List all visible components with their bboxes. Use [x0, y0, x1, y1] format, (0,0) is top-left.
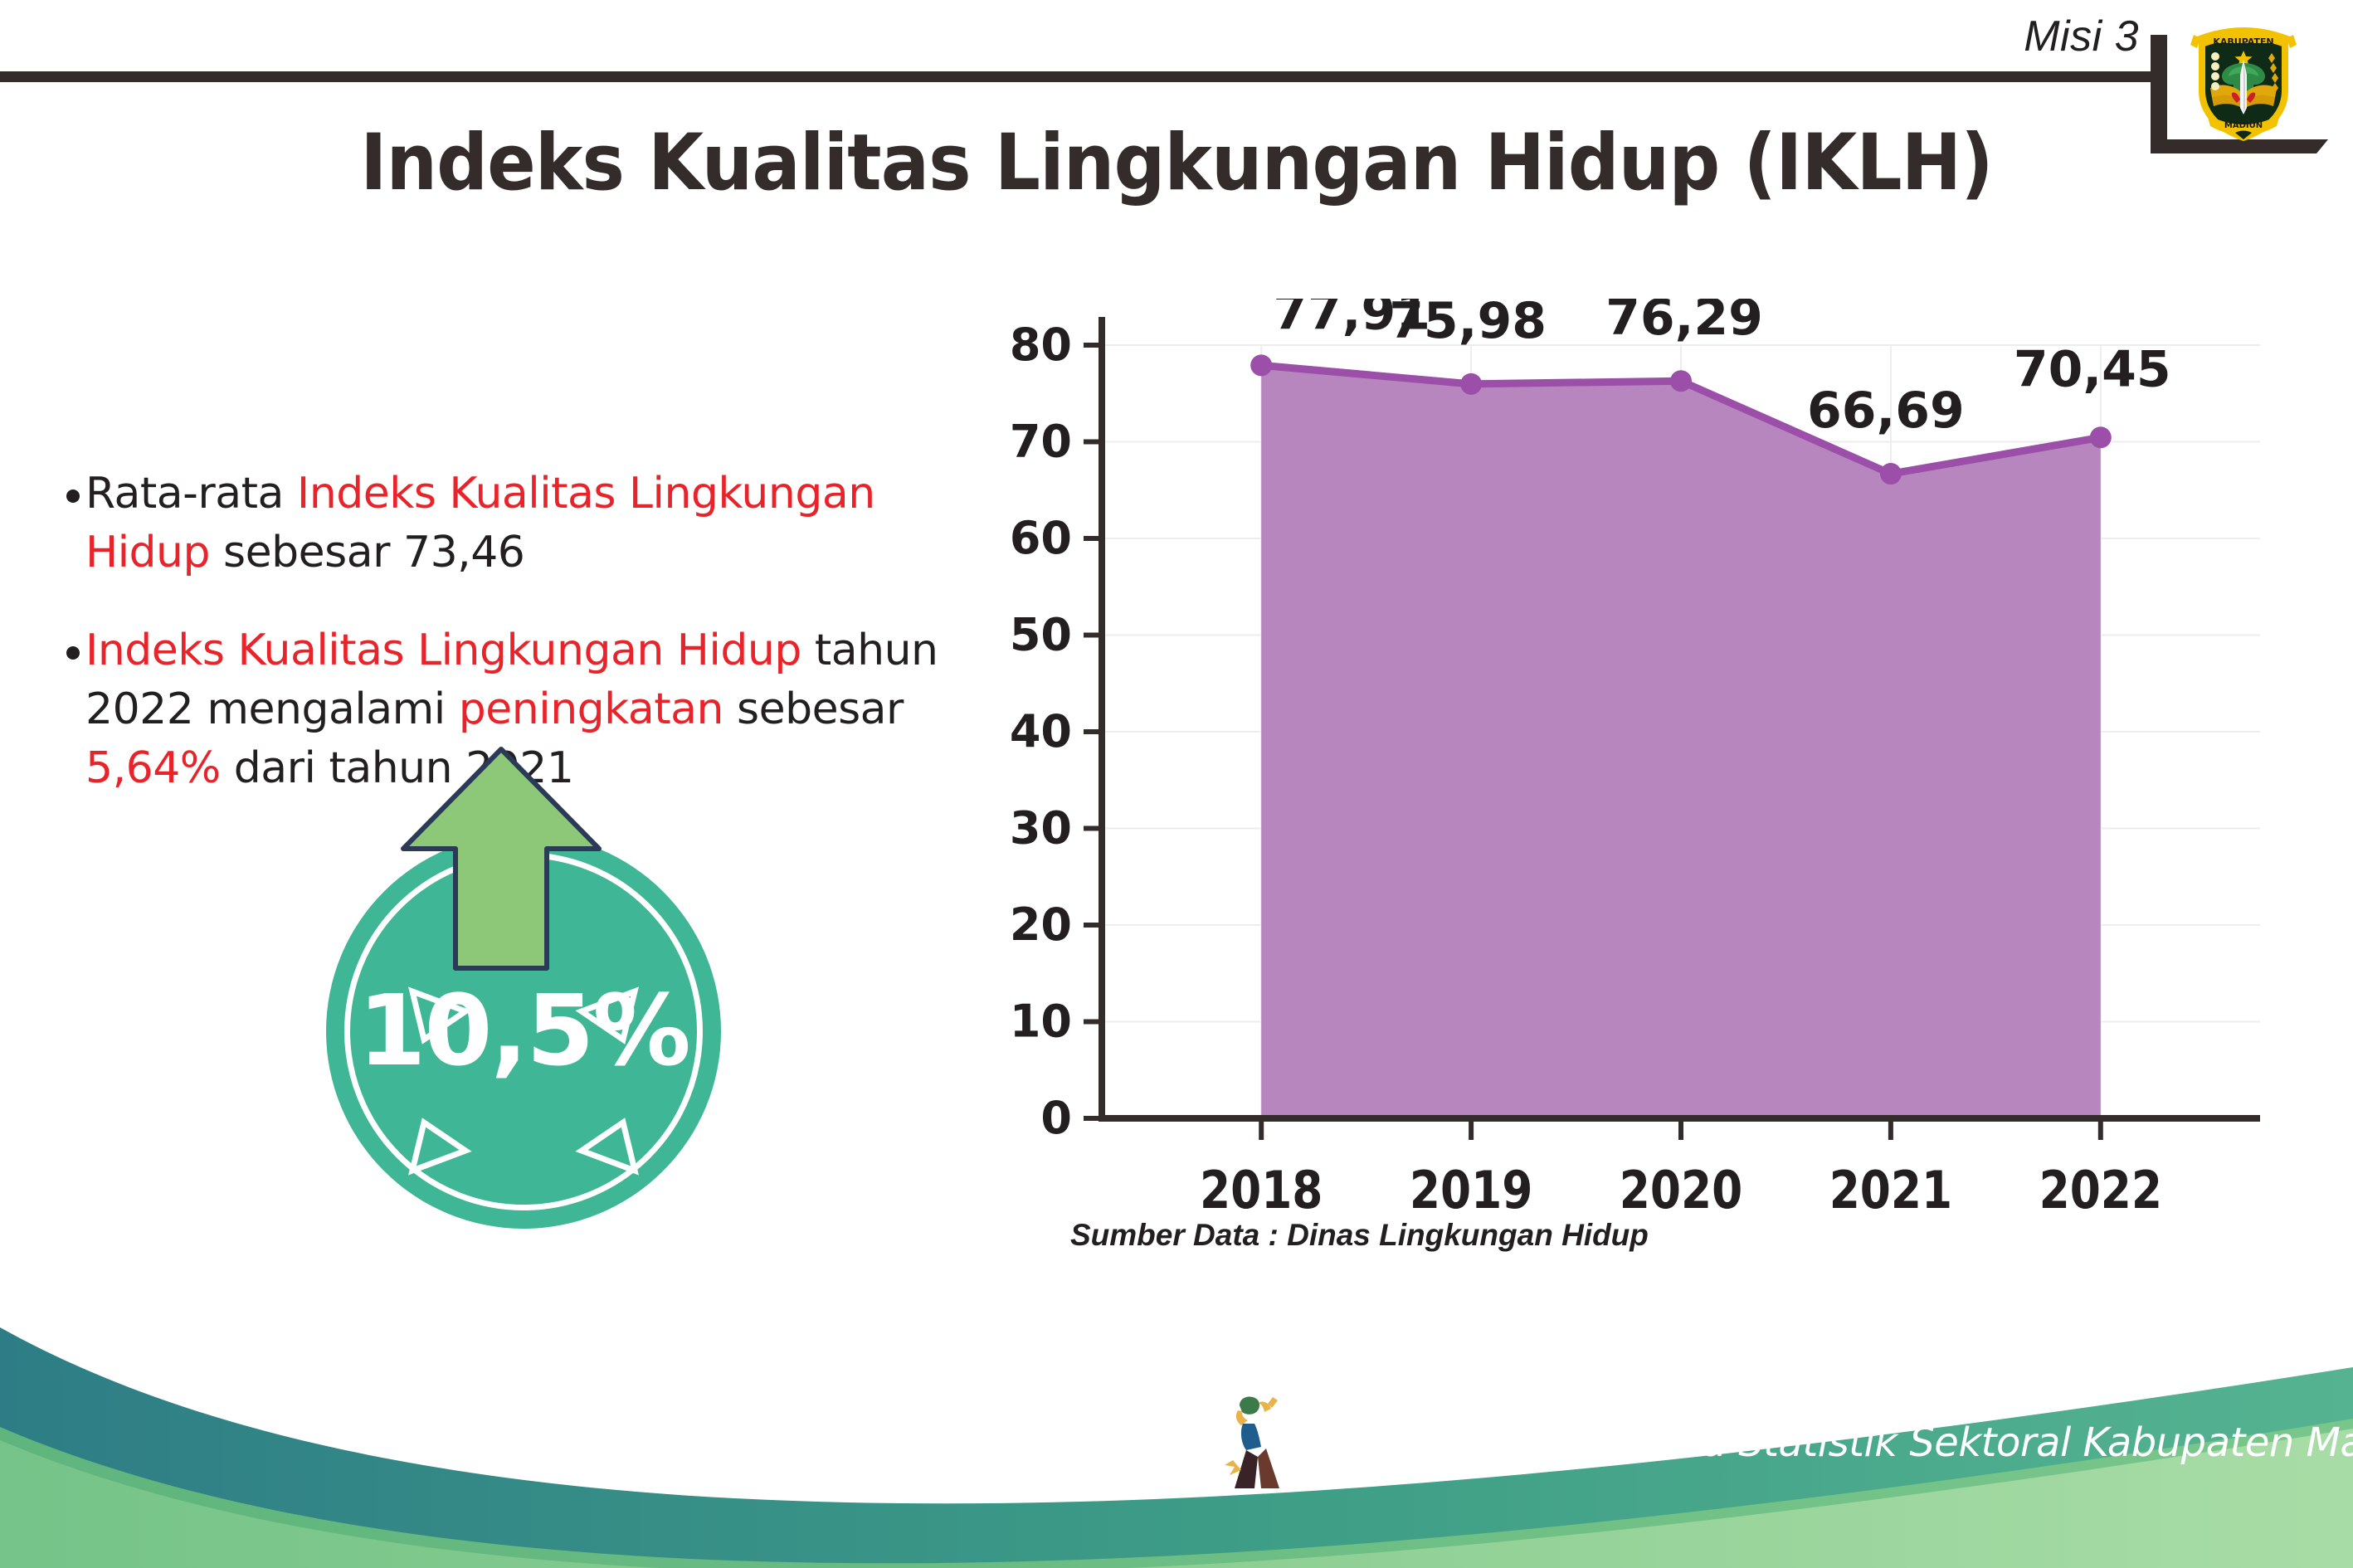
data-point-label: 76,29: [1605, 299, 1763, 347]
x-tick-label: 2020: [1620, 1160, 1742, 1220]
y-tick-label: 20: [1010, 898, 1072, 951]
chart-area-series: [1261, 365, 2101, 1118]
header-divider-rule: [0, 71, 2161, 82]
bullet-dot-icon: [66, 646, 80, 660]
footer-brand: Media Infografis Data Statistik Sektoral…: [1218, 1389, 2353, 1497]
data-point-label: 75,98: [1389, 299, 1547, 350]
y-tick-label: 0: [1040, 1092, 1072, 1144]
x-tick-label: 2019: [1410, 1160, 1532, 1220]
data-point-label: 66,69: [1807, 382, 1965, 440]
y-tick-label: 10: [1010, 996, 1072, 1048]
chart-x-tick-labels: 20182019202020212022: [1200, 1160, 2162, 1220]
x-tick-label: 2022: [2039, 1160, 2162, 1220]
y-tick-label: 40: [1010, 705, 1072, 757]
mission-label: Misi 3: [2024, 12, 2139, 61]
infographic-slide: Misi 3 KABUPATEN: [0, 0, 2353, 1568]
x-tick-label: 2021: [1829, 1160, 1952, 1220]
page-title: Indeks Kualitas Lingkungan Hidup (IKLH): [94, 118, 2258, 208]
y-tick-label: 60: [1010, 512, 1072, 564]
growth-badge: 10,5%: [326, 834, 721, 1229]
y-tick-label: 50: [1010, 609, 1072, 661]
y-tick-label: 80: [1010, 319, 1072, 371]
badge-value-label: 10,5%: [326, 973, 721, 1088]
iklh-area-chart: 01020304050607080 20182019202020212022 7…: [979, 299, 2273, 1278]
y-tick-label: 70: [1010, 416, 1072, 468]
statistics-person-logo-icon: [1218, 1389, 1296, 1497]
x-tick-label: 2018: [1200, 1160, 1323, 1220]
data-point-label: 70,45: [2014, 340, 2171, 398]
chart-y-tick-labels: 01020304050607080: [1010, 319, 1072, 1144]
chart-canvas: 01020304050607080 20182019202020212022 7…: [979, 299, 2273, 1278]
narrative-bullet-1-text: Rata-rata Indeks Kualitas Lingkungan Hid…: [85, 465, 971, 582]
narrative-bullet-1: Rata-rata Indeks Kualitas Lingkungan Hid…: [66, 465, 971, 582]
footer-brand-text: Media Infografis Data Statistik Sektoral…: [1308, 1419, 2353, 1466]
bullet-dot-icon: [66, 489, 80, 503]
chart-source-caption: Sumber Data : Dinas Lingkungan Hidup: [1070, 1218, 1649, 1253]
svg-text:KABUPATEN: KABUPATEN: [2213, 37, 2273, 47]
y-tick-label: 30: [1010, 802, 1072, 855]
